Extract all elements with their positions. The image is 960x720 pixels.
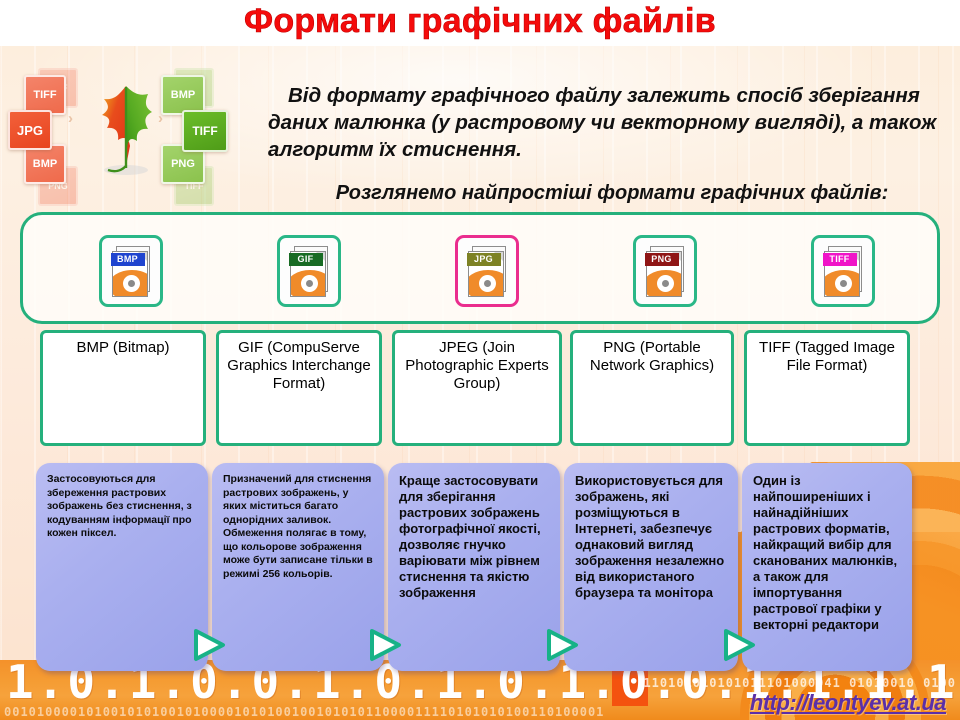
document-glyph: TIFF [824,246,866,298]
hero-card-left-bmp: BMP [24,144,66,184]
file-icon-cell-jpg[interactable]: JPG [445,229,529,313]
doc-ring [835,275,852,292]
flow-arrow-4-icon [722,628,756,662]
document-glyph: BMP [112,246,154,298]
document-glyph: JPG [468,246,510,298]
hero-card-left-tiff: TIFF [24,75,66,115]
format-description-jpeg: Краще застосовувати для зберігання растр… [388,463,560,671]
format-tag-tiff: TIFF [823,253,857,266]
flow-arrow-3-icon [545,628,579,662]
bmp-file-icon: BMP [99,235,163,307]
document-glyph: PNG [646,246,688,298]
footer-binary-small: 0010100001010010101001010000101010010010… [4,705,604,719]
format-name-png: PNG (Portable Network Graphics) [570,330,734,446]
doc-ring [479,275,496,292]
file-icon-cell-tiff[interactable]: TIFF [801,229,885,313]
png-file-icon: PNG [633,235,697,307]
flow-arrow-2-icon [368,628,402,662]
format-tag-png: PNG [645,253,679,266]
format-tag-bmp: BMP [111,253,145,266]
format-description-bmp: Застосовуються для збереження растрових … [36,463,208,671]
file-icon-cell-bmp[interactable]: BMP [89,229,173,313]
hero-card-right-tiff: TIFF [182,110,228,152]
jpg-file-icon: JPG [455,235,519,307]
intro-paragraph-2: Розглянемо найпростіші формати графічних… [268,180,956,206]
site-url-link[interactable]: http://leontyev.at.ua [750,690,946,716]
slide-root: Формати графічних файлів TIFF PNG TIFF B… [0,0,960,720]
file-icon-cell-gif[interactable]: GIF [267,229,351,313]
intro-paragraph-1: Від формату графічного файлу залежить сп… [268,82,956,163]
format-description-tiff: Один із найпоширеніших і найнадійніших р… [742,463,912,671]
formats-illustration: TIFF PNG TIFF BMP JPG › [6,66,262,206]
tiff-file-icon: TIFF [811,235,875,307]
hero-card-left-jpg: JPG [8,110,52,150]
document-glyph: GIF [290,246,332,298]
format-tag-jpg: JPG [467,253,501,266]
footer-binary-small-right: 110101010101011101000041 01010010 0100 [643,676,956,690]
format-description-png: Використовується для зображень, які розм… [564,463,738,671]
format-description-gif: Призначений для стиснення растрових зобр… [212,463,384,671]
hero-card-right-bmp: BMP [161,75,205,115]
format-name-tiff: TIFF (Tagged Image File Format) [744,330,910,446]
file-icons-container: BMP GIF [20,212,940,324]
page-title: Формати графічних файлів [0,2,960,41]
format-tag-gif: GIF [289,253,323,266]
format-name-jpeg: JPEG (Join Photographic Experts Group) [392,330,562,446]
hero-arrow-left-icon: › [68,110,73,127]
file-icon-cell-png[interactable]: PNG [623,229,707,313]
doc-ring [123,275,140,292]
format-name-gif: GIF (CompuServe Graphics Interchange For… [216,330,382,446]
flow-arrow-1-icon [192,628,226,662]
doc-ring [301,275,318,292]
format-name-bmp: BMP (Bitmap) [40,330,206,446]
doc-ring [657,275,674,292]
maple-leaf-icon [92,80,158,180]
gif-file-icon: GIF [277,235,341,307]
